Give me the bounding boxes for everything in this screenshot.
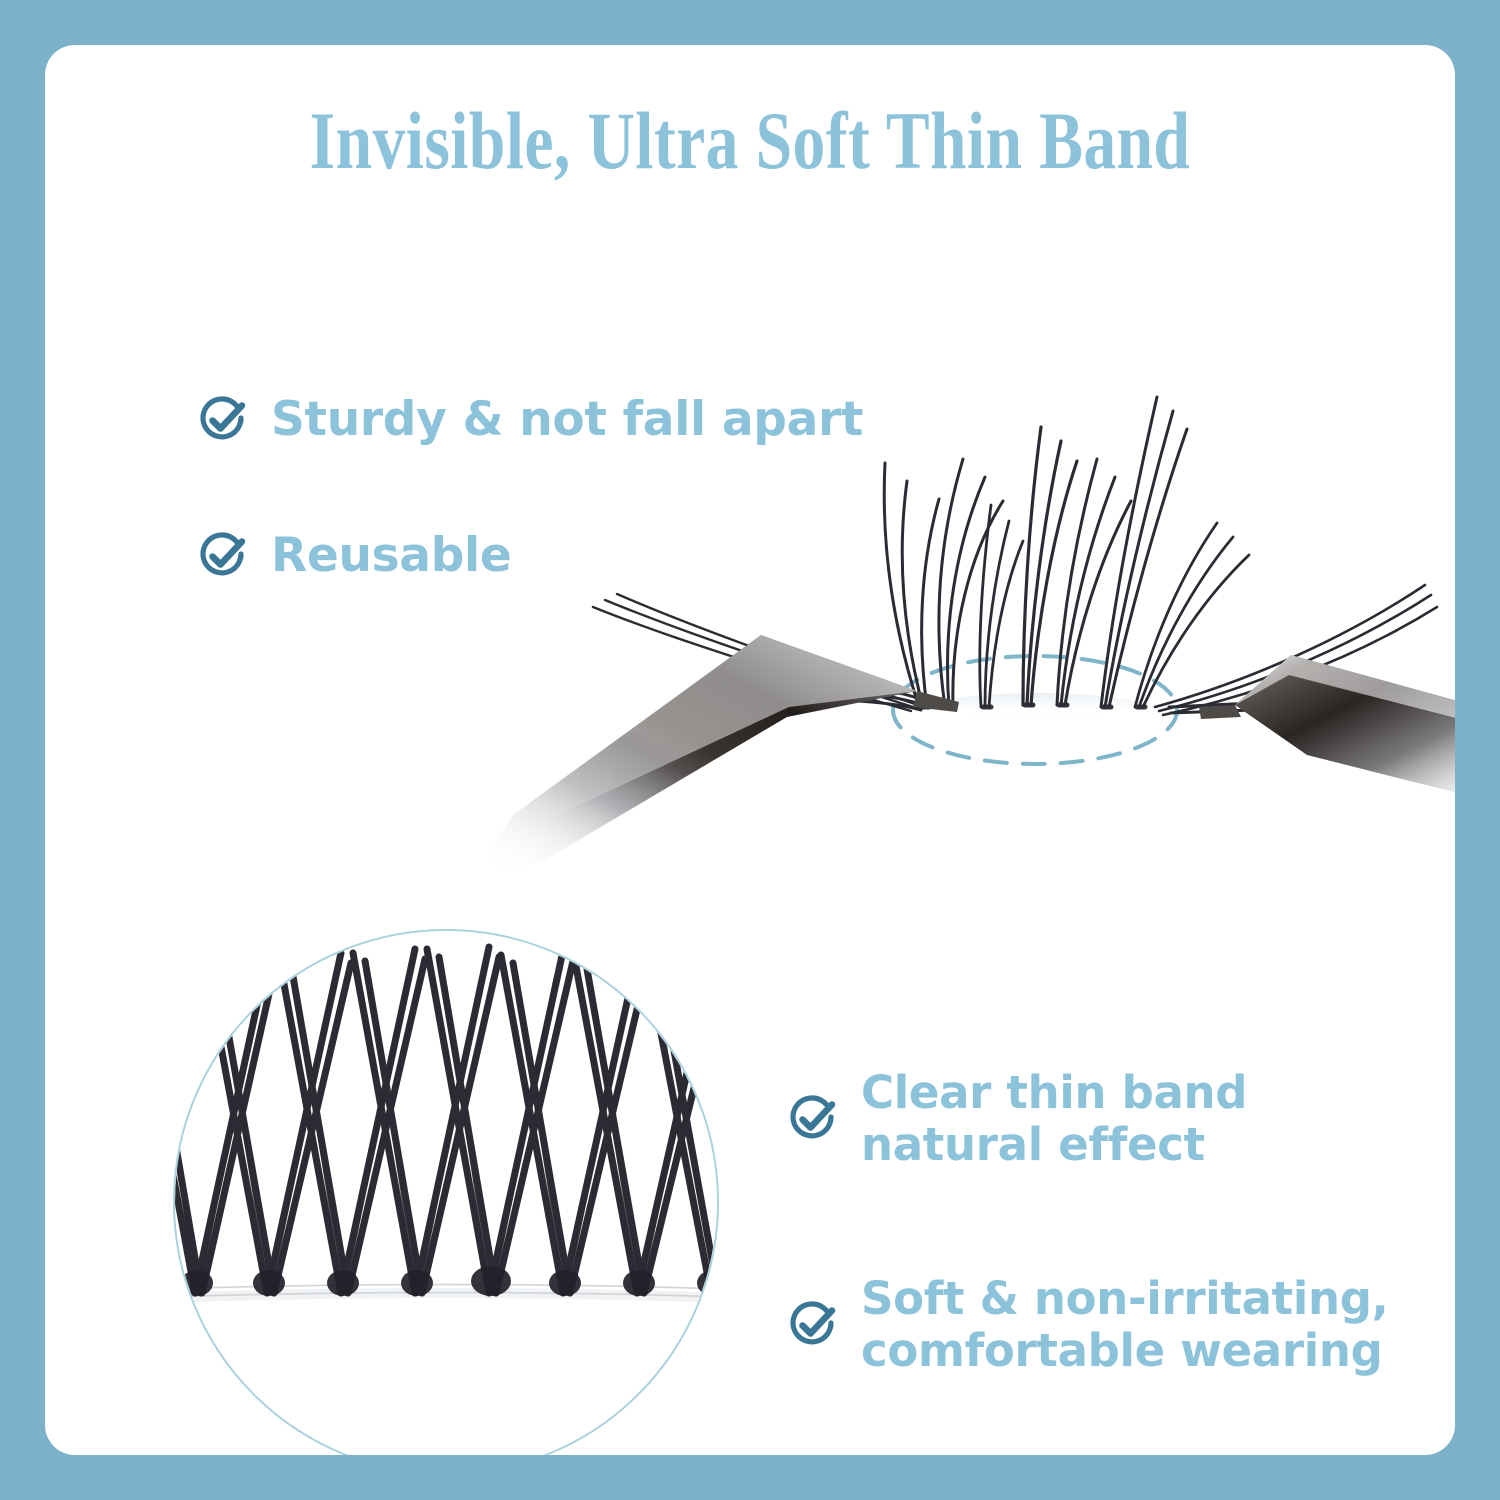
tweezer-arm-left: [475, 635, 959, 875]
check-circle-icon: [197, 530, 249, 582]
check-circle-icon: [787, 1093, 839, 1145]
feature-label: Clear thin band natural effect: [861, 1067, 1247, 1171]
feature-row-sturdy: Sturdy & not fall apart: [197, 393, 863, 448]
feature-row-soft: Soft & non-irritating, comfortable weari…: [787, 1273, 1388, 1377]
white-card: Invisible, Ultra Soft Thin Band: [45, 45, 1455, 1455]
check-circle-icon: [197, 394, 249, 446]
feature-row-clear-band: Clear thin band natural effect: [787, 1067, 1247, 1171]
magnified-lash-band-closeup: [173, 929, 719, 1455]
infographic-root: Invisible, Ultra Soft Thin Band: [0, 0, 1500, 1500]
page-title: Invisible, Ultra Soft Thin Band: [186, 100, 1314, 182]
check-circle-icon: [787, 1299, 839, 1351]
feature-row-reusable: Reusable: [197, 529, 511, 584]
feature-label: Soft & non-irritating, comfortable weari…: [861, 1273, 1388, 1377]
feature-label: Sturdy & not fall apart: [271, 393, 863, 448]
feature-label: Reusable: [271, 529, 511, 584]
